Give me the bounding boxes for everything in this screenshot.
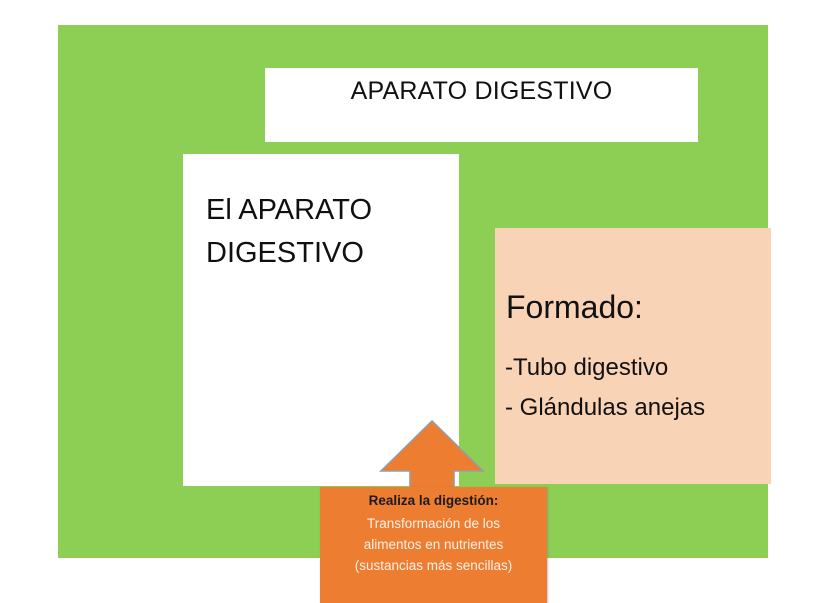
composition-card: Formado: -Tubo digestivo - Glándulas ane…	[495, 228, 771, 484]
composition-list: -Tubo digestivo - Glándulas anejas	[505, 348, 771, 428]
up-arrow-icon	[378, 419, 486, 491]
list-item: - Glándulas anejas	[505, 388, 771, 428]
left-card-heading: El APARATO DIGESTIVO	[206, 189, 446, 275]
slide-canvas: APARATO DIGESTIVO El APARATO DIGESTIVO R…	[58, 25, 768, 558]
composition-heading: Formado:	[506, 289, 643, 326]
callout-line: Transformación de los	[320, 513, 547, 534]
page-title: APARATO DIGESTIVO	[265, 77, 698, 106]
callout-line: (sustancias más sencillas)	[320, 555, 547, 576]
left-content-card: El APARATO DIGESTIVO Realiza la digestió…	[183, 154, 459, 486]
callout-line: alimentos en nutrientes	[320, 534, 547, 555]
callout-title: Realiza la digestión:	[320, 493, 547, 508]
callout-body: Transformación de los alimentos en nutri…	[320, 513, 547, 576]
list-item: -Tubo digestivo	[505, 348, 771, 388]
title-card: APARATO DIGESTIVO	[265, 68, 698, 142]
